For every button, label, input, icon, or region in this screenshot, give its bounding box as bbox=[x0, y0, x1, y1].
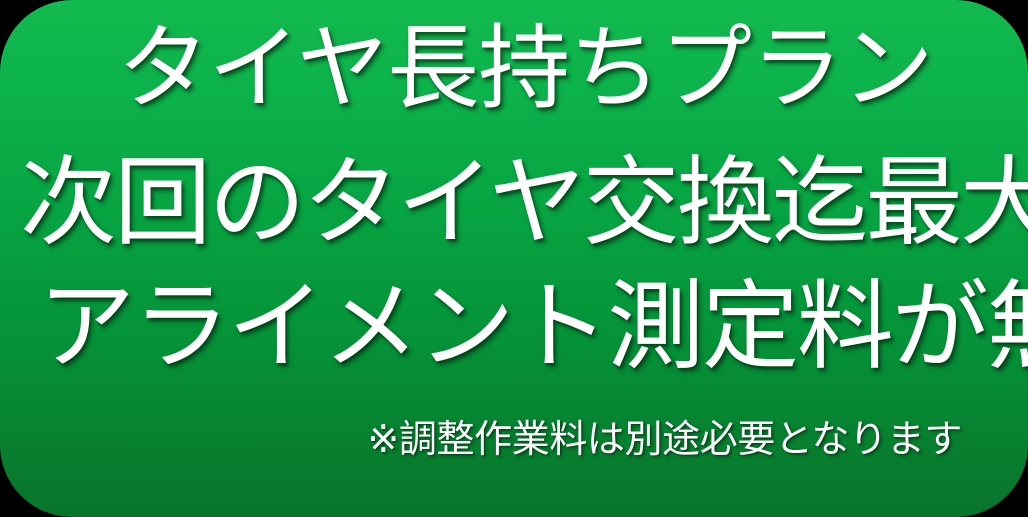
banner-detail-text: 次回のタイヤ交換迄最大4年間・年に1回 bbox=[20, 150, 1028, 257]
banner-title: タイヤ長持ちプラン bbox=[0, 18, 1028, 119]
banner-benefit-text: アライメント測定料が無料になります。 bbox=[38, 274, 1028, 381]
banner-footnote: ※調整作業料は別途必要となります bbox=[367, 418, 962, 462]
tire-plan-promo-banner: タイヤ長持ちプラン 次回のタイヤ交換迄最大4年間・年に1回 アライメント測定料が… bbox=[0, 0, 1028, 517]
